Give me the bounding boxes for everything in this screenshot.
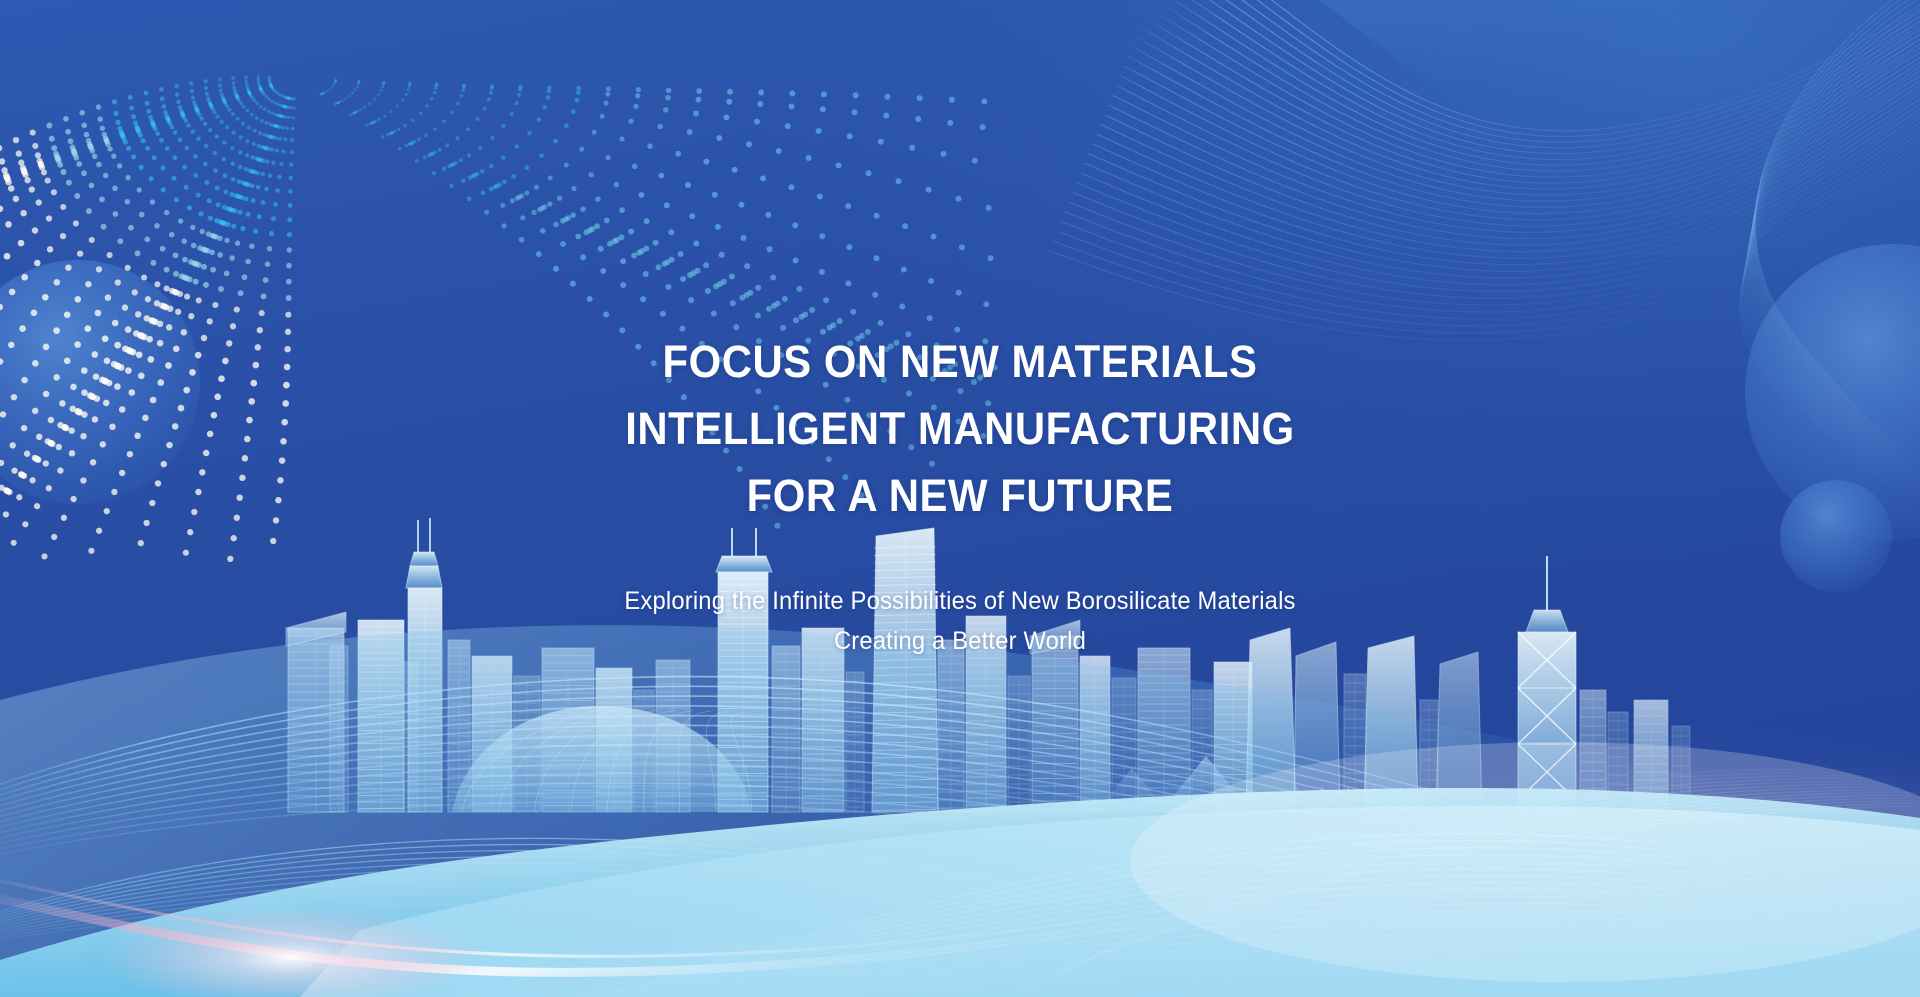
hero-banner: FOCUS ON NEW MATERIALS INTELLIGENT MANUF… [0, 0, 1920, 997]
foreground-hill-highlight [300, 806, 1920, 997]
hero-copy: FOCUS ON NEW MATERIALS INTELLIGENT MANUF… [0, 328, 1920, 661]
pink-light-streak-thin [0, 872, 1300, 956]
pink-light-streak [0, 890, 1260, 972]
streak-glow [100, 906, 480, 997]
subtitle-line-1: Exploring the Infinite Possibilities of … [48, 581, 1872, 621]
foreground-hill [0, 788, 1920, 997]
subtitle-line-2: Creating a Better World [48, 621, 1872, 661]
left-sky-veil [0, 625, 1920, 997]
hill-crest-glow [1130, 742, 1920, 982]
hero-subtitle: Exploring the Infinite Possibilities of … [48, 581, 1872, 661]
headline-line-3: FOR A NEW FUTURE [67, 462, 1853, 529]
headline-line-2: INTELLIGENT MANUFACTURING [67, 395, 1853, 462]
page-title: FOCUS ON NEW MATERIALS INTELLIGENT MANUF… [67, 328, 1853, 529]
headline-line-1: FOCUS ON NEW MATERIALS [67, 328, 1853, 395]
